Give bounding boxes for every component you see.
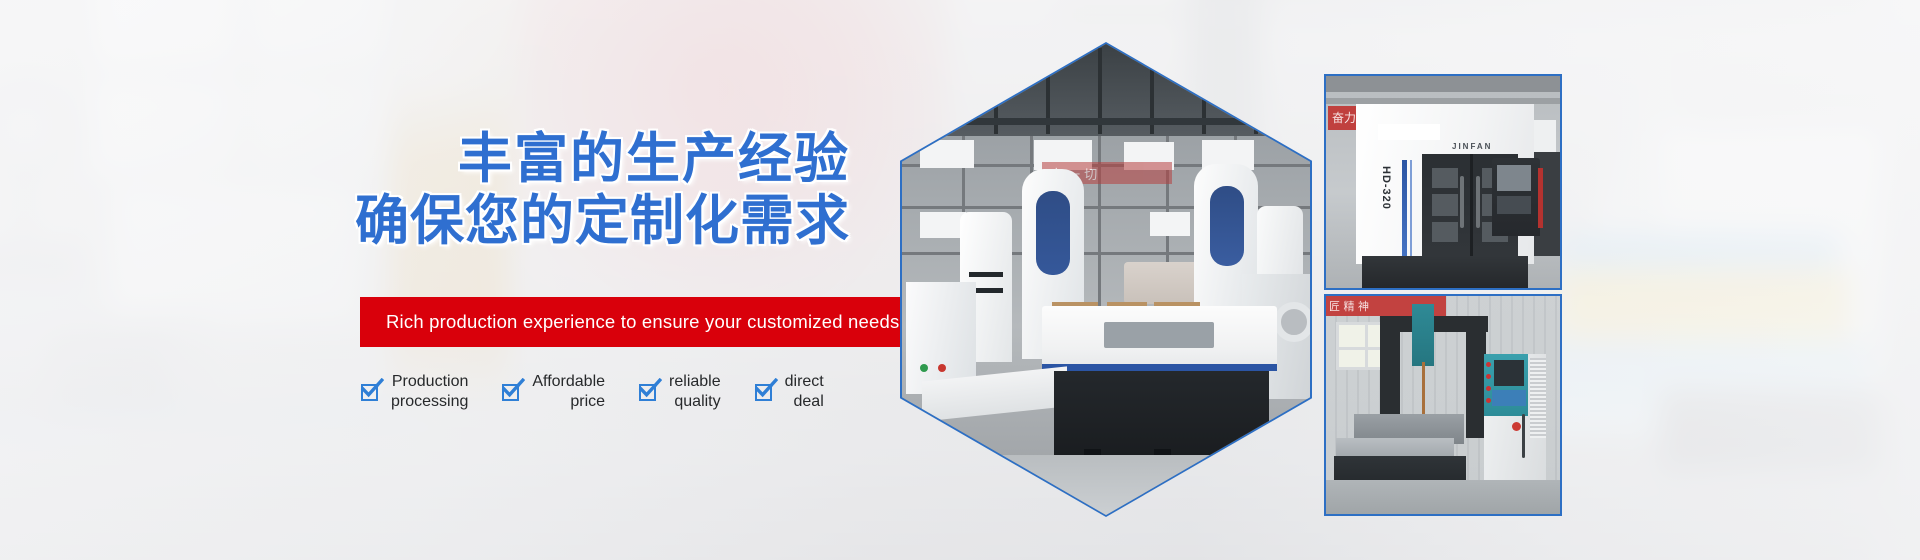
- hero-banner: 丰富的生产经验 确保您的定制化需求 Rich production experi…: [0, 0, 1920, 560]
- feature-label-line-2: processing: [391, 393, 468, 410]
- machine-brand-label: JINFAN: [1452, 142, 1492, 151]
- feature-label-line-2: deal: [794, 393, 824, 410]
- feature-label-line-2: quality: [674, 393, 720, 410]
- page-title: 丰富的生产经验 确保您的定制化需求: [0, 128, 850, 252]
- thumbnail-edm-machine[interactable]: 匠 精 神: [1324, 294, 1562, 516]
- subtitle-text: Rich production experience to ensure you…: [360, 311, 899, 333]
- hd-320-machining-center-photo: 奋力 HD-320 JINFAN: [1326, 76, 1560, 288]
- headline-line-1: 丰富的生产经验: [0, 128, 850, 190]
- feature-label-line-1: Production: [392, 373, 469, 390]
- feature-label-line-2: price: [570, 393, 605, 410]
- feature-item-reliable-quality[interactable]: reliablequality: [638, 372, 721, 412]
- feature-item-direct-deal[interactable]: directdeal: [754, 372, 824, 412]
- feature-label-line-1: direct: [785, 373, 824, 390]
- machine-model-label: HD-320: [1380, 166, 1392, 210]
- checkbox-checked-icon: [360, 381, 382, 403]
- feature-label: directdeal: [785, 372, 824, 412]
- edm-wire-cut-machine-photo: 匠 精 神: [1326, 296, 1560, 514]
- checkbox-checked-icon: [501, 381, 523, 403]
- feature-label-line-1: reliable: [669, 373, 721, 390]
- thumbnail-machining-center[interactable]: 奋力 HD-320 JINFAN: [1324, 74, 1562, 290]
- feature-label: Productionprocessing: [391, 372, 468, 412]
- feature-item-affordable-price[interactable]: Affordableprice: [501, 372, 605, 412]
- feature-list: Productionprocessing Affordableprice: [360, 372, 824, 412]
- feature-item-production-processing[interactable]: Productionprocessing: [360, 372, 468, 412]
- headline-line-2: 确保您的定制化需求: [0, 190, 850, 252]
- subtitle-bar: Rich production experience to ensure you…: [360, 297, 905, 347]
- checkbox-checked-icon: [754, 381, 776, 403]
- banner-copy: 丰富的生产经验 确保您的定制化需求 Rich production experi…: [0, 0, 920, 560]
- cnc-production-line-photo: 定 一 切: [902, 44, 1310, 515]
- feature-label: reliablequality: [669, 372, 721, 412]
- feature-label-line-1: Affordable: [532, 373, 605, 390]
- feature-label: Affordableprice: [532, 372, 605, 412]
- checkbox-checked-icon: [638, 381, 660, 403]
- hexagon-photo-frame[interactable]: 定 一 切: [900, 42, 1312, 517]
